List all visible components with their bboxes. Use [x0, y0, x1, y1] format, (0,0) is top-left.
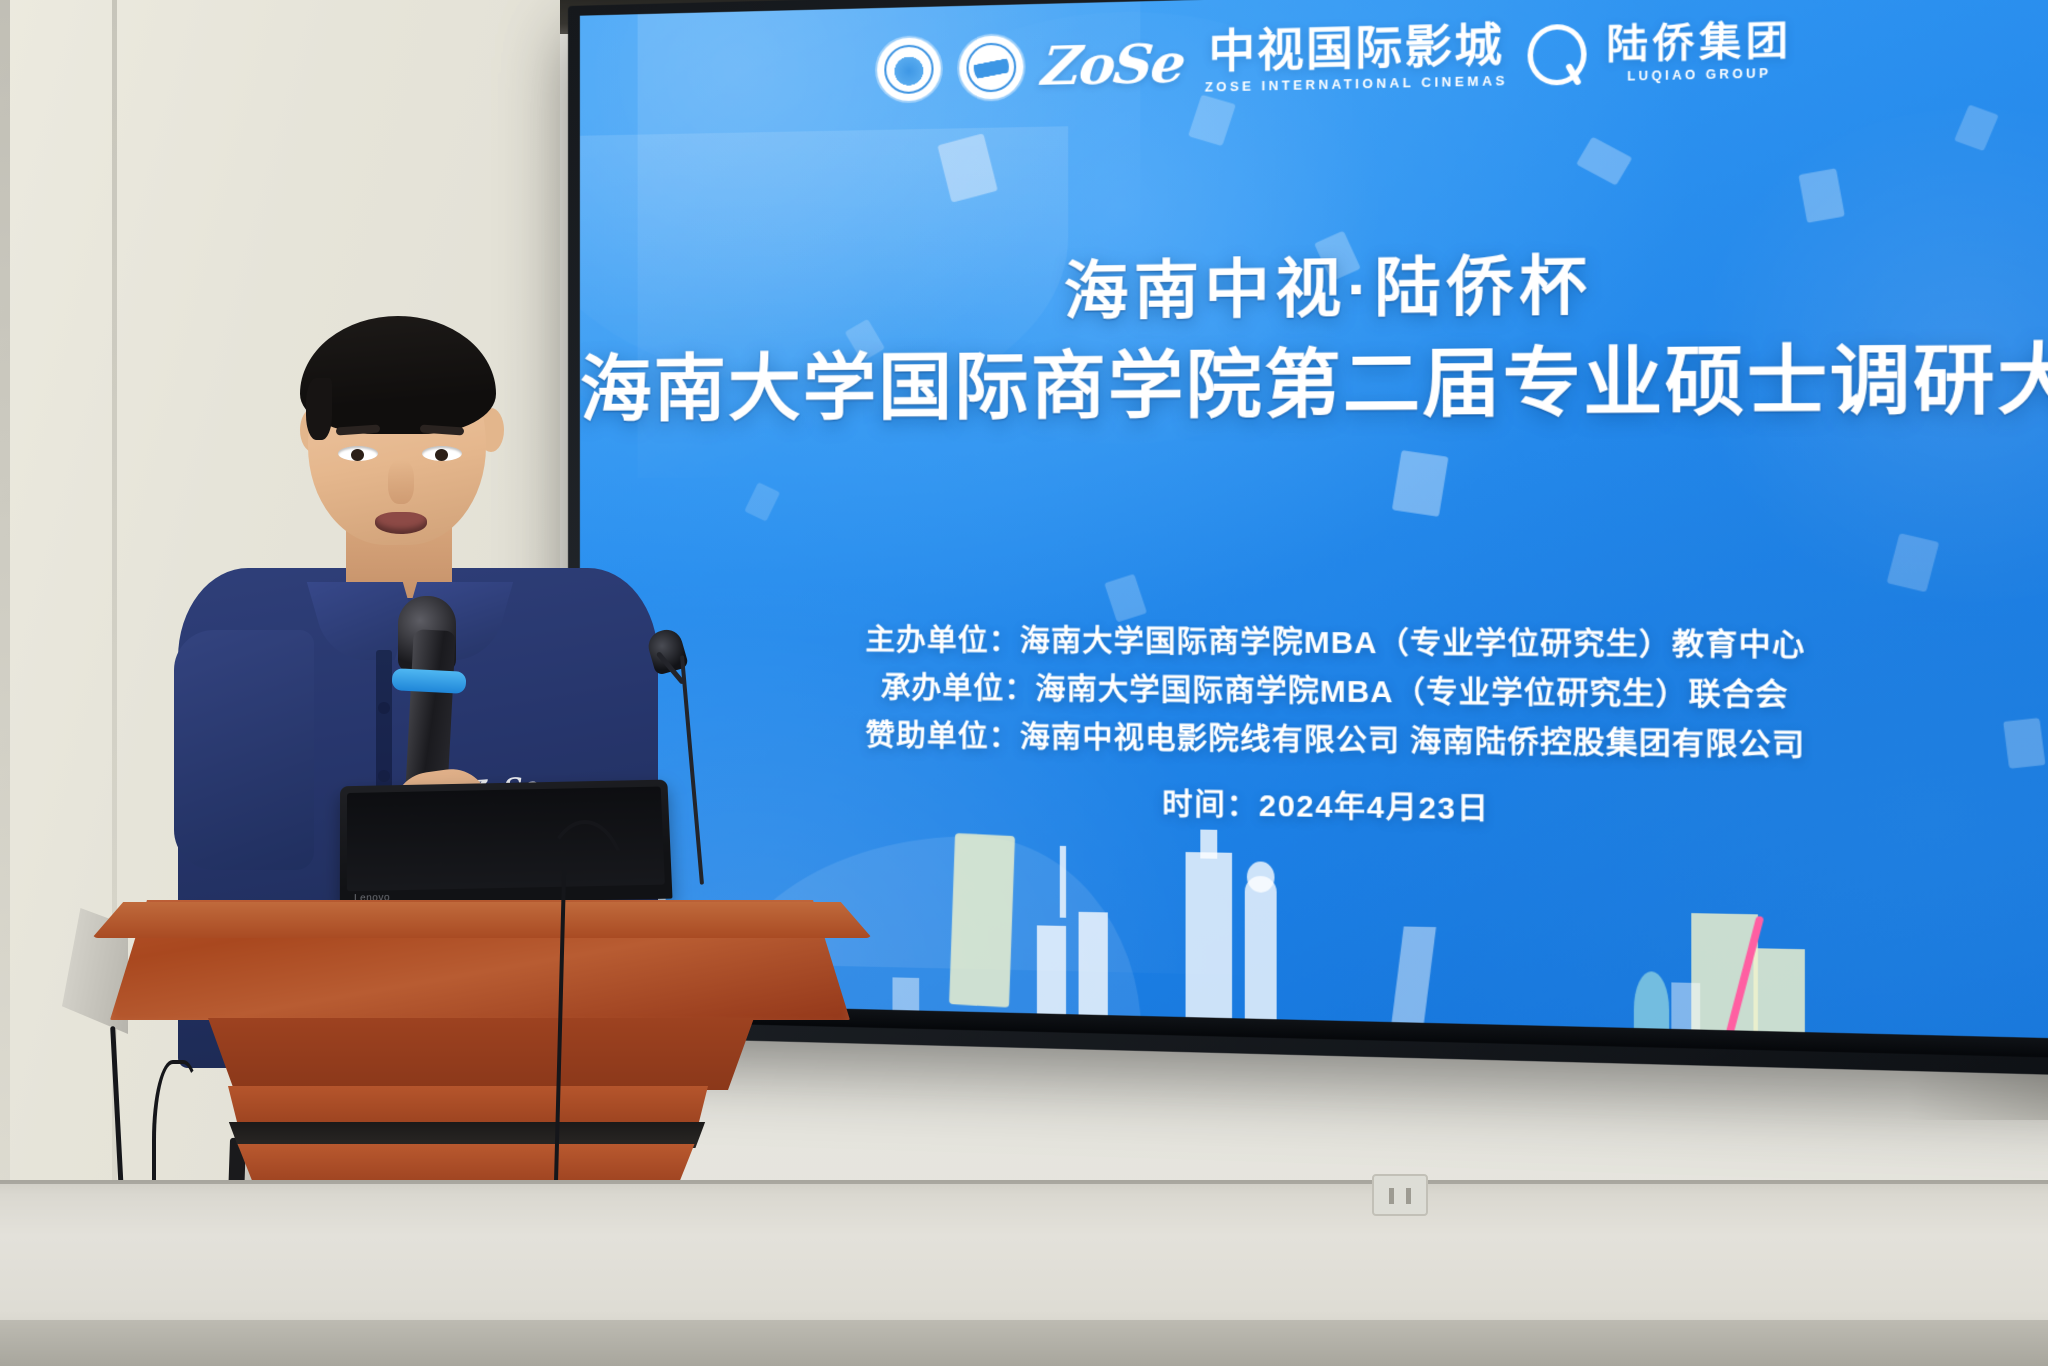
zose-brand-en: ZOSE INTERNATIONAL CINEMAS: [1205, 75, 1508, 94]
skyline-pink-accent: [1724, 915, 1764, 1042]
confetti-paper-10: [1887, 533, 1940, 592]
confetti-paper-2: [1188, 95, 1236, 147]
podium-band-upper: [218, 1086, 718, 1126]
slide-logo-bar: ZoSe 中视国际影城 ZOSE INTERNATIONAL CINEMAS 陆…: [580, 8, 2048, 107]
luqiao-brand-en: LUQIAO GROUP: [1627, 67, 1771, 83]
confetti-paper-5: [1798, 168, 1845, 223]
slide-title-group: 海南中视·陆侨杯 海南大学国际商学院第二届专业硕士调研大赛: [580, 246, 2048, 430]
slide-title-sub: 海南大学国际商学院第二届专业硕士调研大赛: [580, 338, 2048, 431]
handheld-microphone-ring: [391, 668, 466, 694]
podium-top-front-face: [92, 902, 872, 938]
luqiao-brand-cn: 陆侨集团: [1606, 20, 1792, 64]
university-seal-emblem-icon: [877, 37, 941, 102]
zose-script-logo: ZoSe: [1039, 32, 1187, 98]
speaker-eye-right: [422, 446, 462, 461]
baseboard-top-line: [0, 1180, 2048, 1184]
room-baseboard: [0, 1180, 2048, 1366]
presentation-photo-scene: ZoSe 中视国际影城 ZOSE INTERNATIONAL CINEMAS 陆…: [0, 0, 2048, 1366]
speaker-sleeve-left: [174, 630, 314, 870]
floor-strip: [0, 1320, 2048, 1366]
confetti-paper-6: [1954, 104, 1999, 151]
speaker-shirt-button-top: [378, 702, 390, 714]
speaker-mouth: [375, 512, 427, 534]
speaker-hair: [300, 316, 496, 434]
zose-brand-cn: 中视国际影城: [1208, 24, 1504, 77]
wall-seam-outer: [0, 0, 10, 1180]
speaker-eye-left: [338, 446, 378, 461]
confetti-paper-12: [744, 482, 780, 522]
slide-detail-group: 主办单位：海南大学国际商学院MBA（专业学位研究生）教育中心 承办单位：海南大学…: [580, 616, 2048, 838]
confetti-paper-8: [1392, 450, 1449, 517]
speaker-nose: [388, 460, 414, 504]
luqiao-brand-block: 陆侨集团 LUQIAO GROUP: [1606, 20, 1792, 83]
luqiao-q-icon: [1528, 24, 1587, 86]
wall-power-outlet-icon: [1372, 1174, 1428, 1216]
speaker-shirt-button-bottom: [378, 770, 390, 782]
podium-mid-taper: [156, 1018, 806, 1090]
hainan-university-emblem-icon: [959, 35, 1023, 100]
confetti-paper-4: [1576, 137, 1632, 186]
zose-brand-block: 中视国际影城 ZOSE INTERNATIONAL CINEMAS: [1205, 24, 1508, 95]
